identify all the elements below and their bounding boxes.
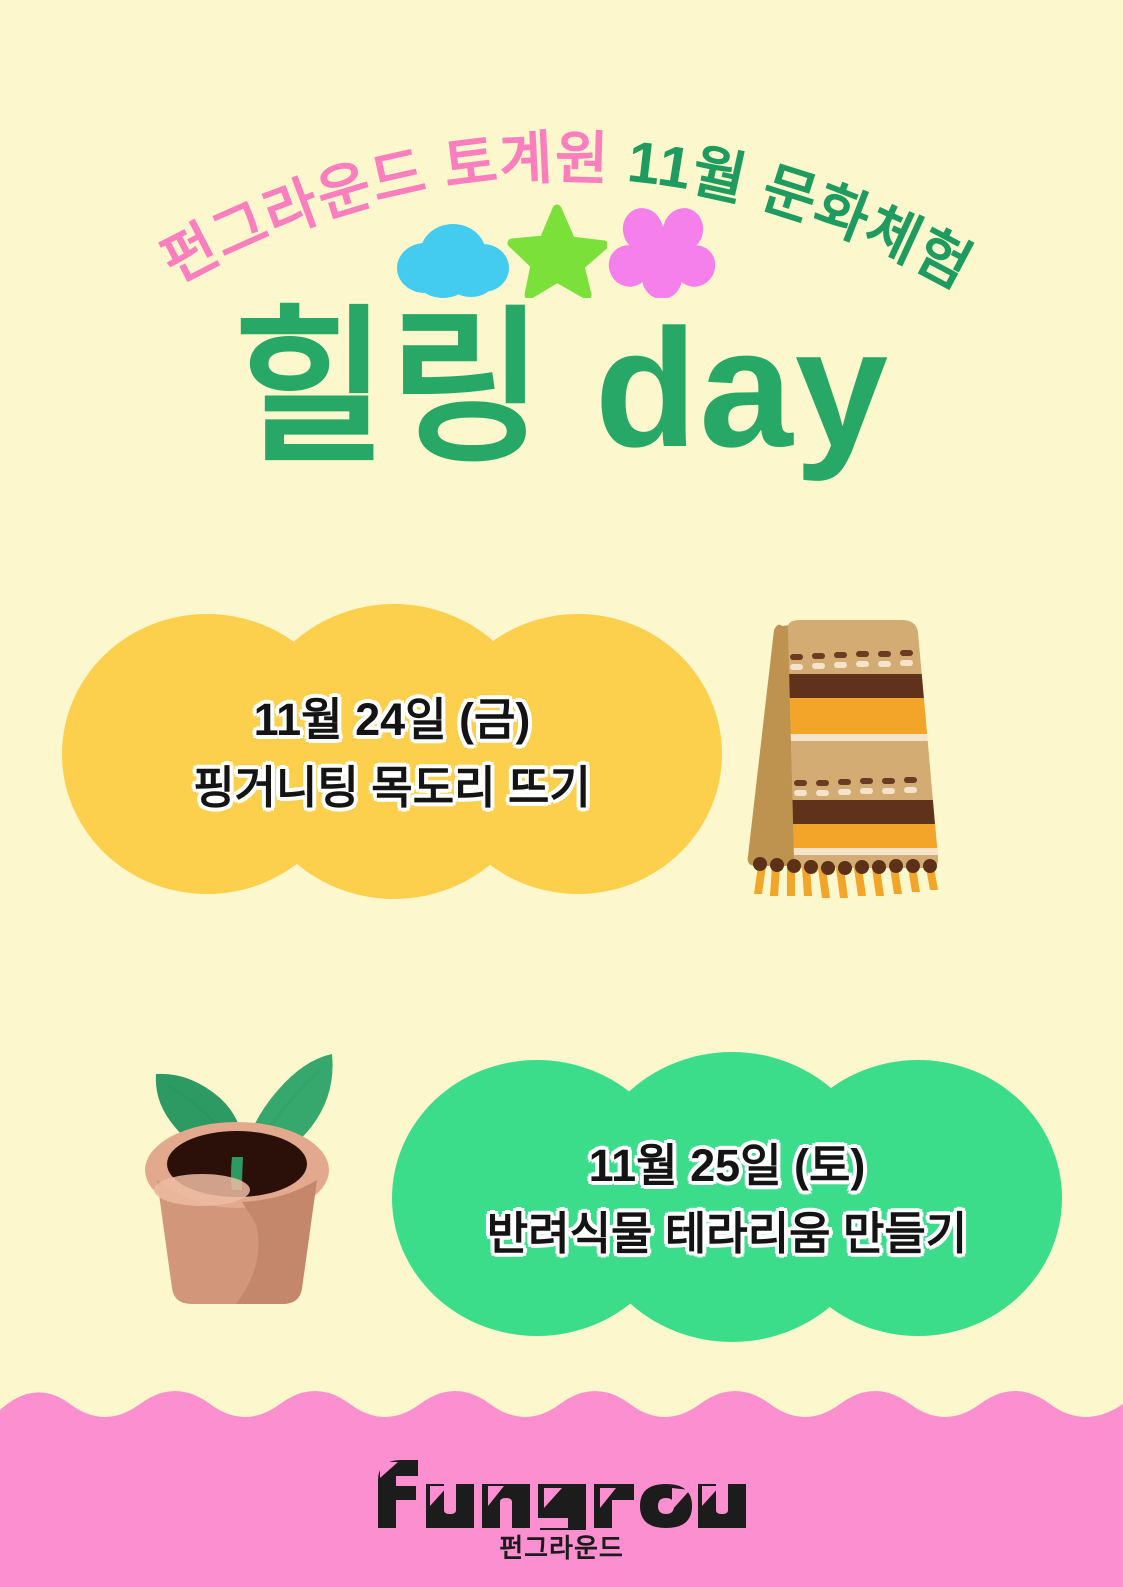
flower-icon [607, 204, 715, 298]
main-title: 힐링 day [0, 300, 1123, 476]
event-1-text: 11월 24일 (금) 핑거니팅 목도리 뜨기 [62, 686, 722, 821]
event-card-1: 11월 24일 (금) 핑거니팅 목도리 뜨기 [62, 604, 722, 899]
event-card-2: 11월 25일 (토) 반려식물 테라리움 만들기 [392, 1052, 1062, 1342]
arched-heading-segment-3: 안내 [0, 40, 27, 53]
event-1-program: 핑거니팅 목도리 뜨기 [62, 754, 722, 822]
star-icon [507, 200, 607, 298]
decoration-row [395, 198, 715, 298]
cloud-icon [395, 220, 510, 298]
funground-wordmark [372, 1456, 752, 1530]
poster-canvas: 펀그라운드 토계원 11월 문화체험안내 [0, 0, 1123, 1587]
footer-logo: 펀그라운드 [0, 1456, 1123, 1565]
event-2-text: 11월 25일 (토) 반려식물 테라리움 만들기 [392, 1132, 1062, 1267]
event-2-date: 11월 25일 (토) [392, 1132, 1062, 1200]
funground-korean-name: 펀그라운드 [0, 1528, 1123, 1565]
plant-illustration [124, 1002, 350, 1312]
scarf-illustration [742, 608, 958, 900]
event-1-date: 11월 24일 (금) [62, 686, 722, 754]
event-2-program: 반려식물 테라리움 만들기 [392, 1200, 1062, 1268]
